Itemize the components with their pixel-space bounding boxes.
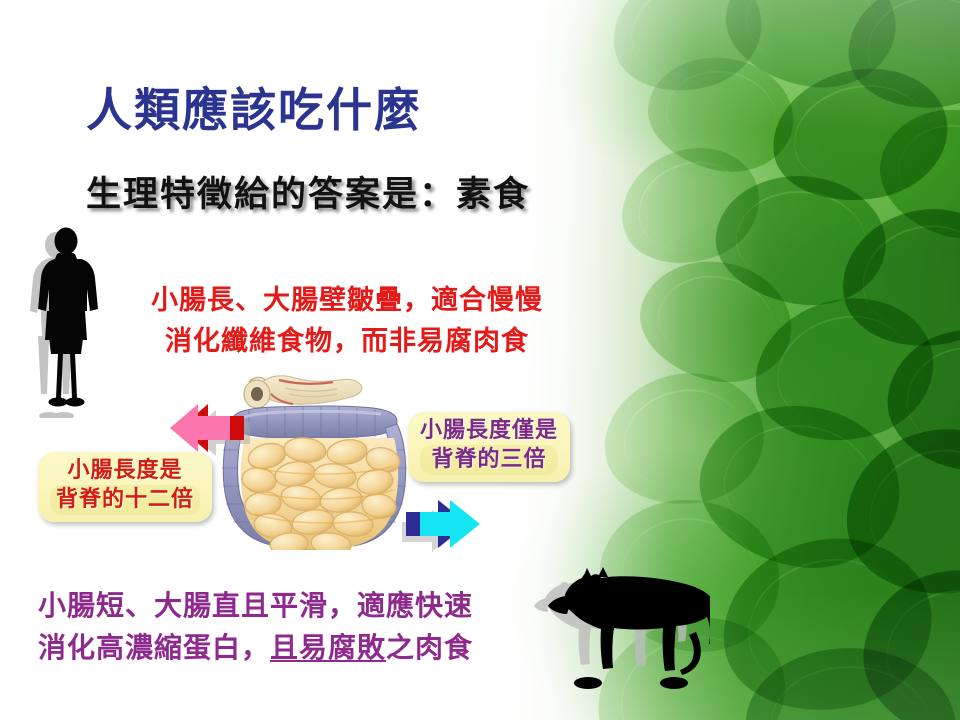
slide-canvas: 人類應該吃什麼 生理特徵給的答案是：素食 小 (0, 0, 960, 720)
carnivore-desc-line-2-prefix: 消化高濃縮蛋白， (38, 633, 270, 664)
carnivore-callout-line-1: 小腸長度僅是 (420, 417, 558, 443)
carnivore-callout-line-2: 背脊的三倍 (420, 445, 558, 475)
carnivore-desc-line-2: 消化高濃縮蛋白，且易腐敗之肉食 (38, 628, 548, 670)
human-desc-line-1: 小腸長、大腸壁皺疊，適合慢慢 (112, 280, 582, 321)
human-desc-line-2: 消化纖維食物，而非易腐肉食 (112, 321, 582, 362)
woman-silhouette-icon (18, 226, 118, 418)
carnivore-intestine-length-callout: 小腸長度僅是 背脊的三倍 (408, 412, 570, 482)
human-callout-line-1: 小腸長度是 (50, 457, 200, 483)
small-intestine-coils-part (240, 436, 402, 550)
stomach-duodenum-part (244, 376, 362, 408)
carnivore-desc-line-1: 小腸短、大腸直且平滑，適應快速 (38, 586, 548, 628)
carnivore-digestion-description: 小腸短、大腸直且平滑，適應快速 消化高濃縮蛋白，且易腐敗之肉食 (38, 586, 548, 670)
panther-silhouette-icon (528, 566, 710, 694)
left-arrow-icon (164, 398, 250, 460)
right-arrow-icon (398, 494, 490, 556)
carnivore-desc-line-2-suffix: 之肉食 (386, 633, 473, 664)
transverse-colon-part (230, 406, 397, 441)
page-subtitle: 生理特徵給的答案是：素食 (86, 166, 530, 217)
human-callout-line-2: 背脊的十二倍 (50, 485, 200, 515)
page-title: 人類應該吃什麼 (86, 74, 422, 140)
carnivore-desc-line-2-underlined: 且易腐敗 (270, 633, 386, 664)
human-intestine-length-callout: 小腸長度是 背脊的十二倍 (38, 452, 212, 522)
human-digestion-description: 小腸長、大腸壁皺疊，適合慢慢 消化纖維食物，而非易腐肉食 (112, 280, 582, 362)
